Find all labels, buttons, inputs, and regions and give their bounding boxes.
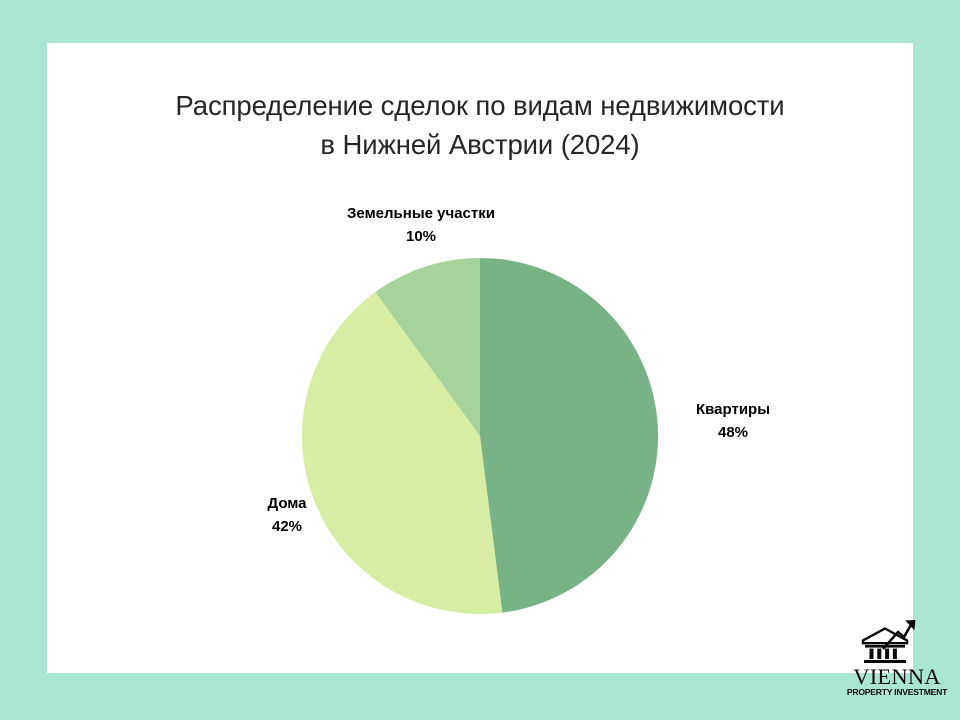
- pie-label-zemelnye-uchastki: Земельные участки 10%: [238, 202, 604, 249]
- pie-label-doma-value: 42%: [222, 515, 352, 538]
- pie-label-zemelnye-uchastki-value: 10%: [238, 225, 604, 248]
- pie-label-kvartiry: Квартиры 48%: [668, 398, 798, 445]
- bank-building-growth-arrow-icon: [860, 619, 918, 665]
- slide-canvas: Распределение сделок по видам недвижимос…: [0, 0, 960, 720]
- pie-label-kvartiry-name: Квартиры: [668, 398, 798, 421]
- logo-tagline: PROPERTY INVESTMENT: [845, 688, 949, 697]
- pie-label-zemelnye-uchastki-name: Земельные участки: [238, 202, 604, 225]
- pie-slice-kvartiry[interactable]: [480, 258, 658, 613]
- chart-title: Распределение сделок по видам недвижимос…: [47, 86, 913, 164]
- pie-label-doma: Дома 42%: [222, 492, 352, 539]
- pie-chart: [302, 258, 658, 614]
- brand-logo: VIENNA PROPERTY INVESTMENT: [845, 619, 949, 703]
- chart-title-line-2: в Нижней Австрии (2024): [320, 129, 639, 160]
- pie-label-doma-name: Дома: [222, 492, 352, 515]
- logo-wordmark: VIENNA: [845, 665, 949, 689]
- chart-title-line-1: Распределение сделок по видам недвижимос…: [175, 90, 784, 121]
- pie-chart-svg: [302, 258, 658, 614]
- pie-label-kvartiry-value: 48%: [668, 421, 798, 444]
